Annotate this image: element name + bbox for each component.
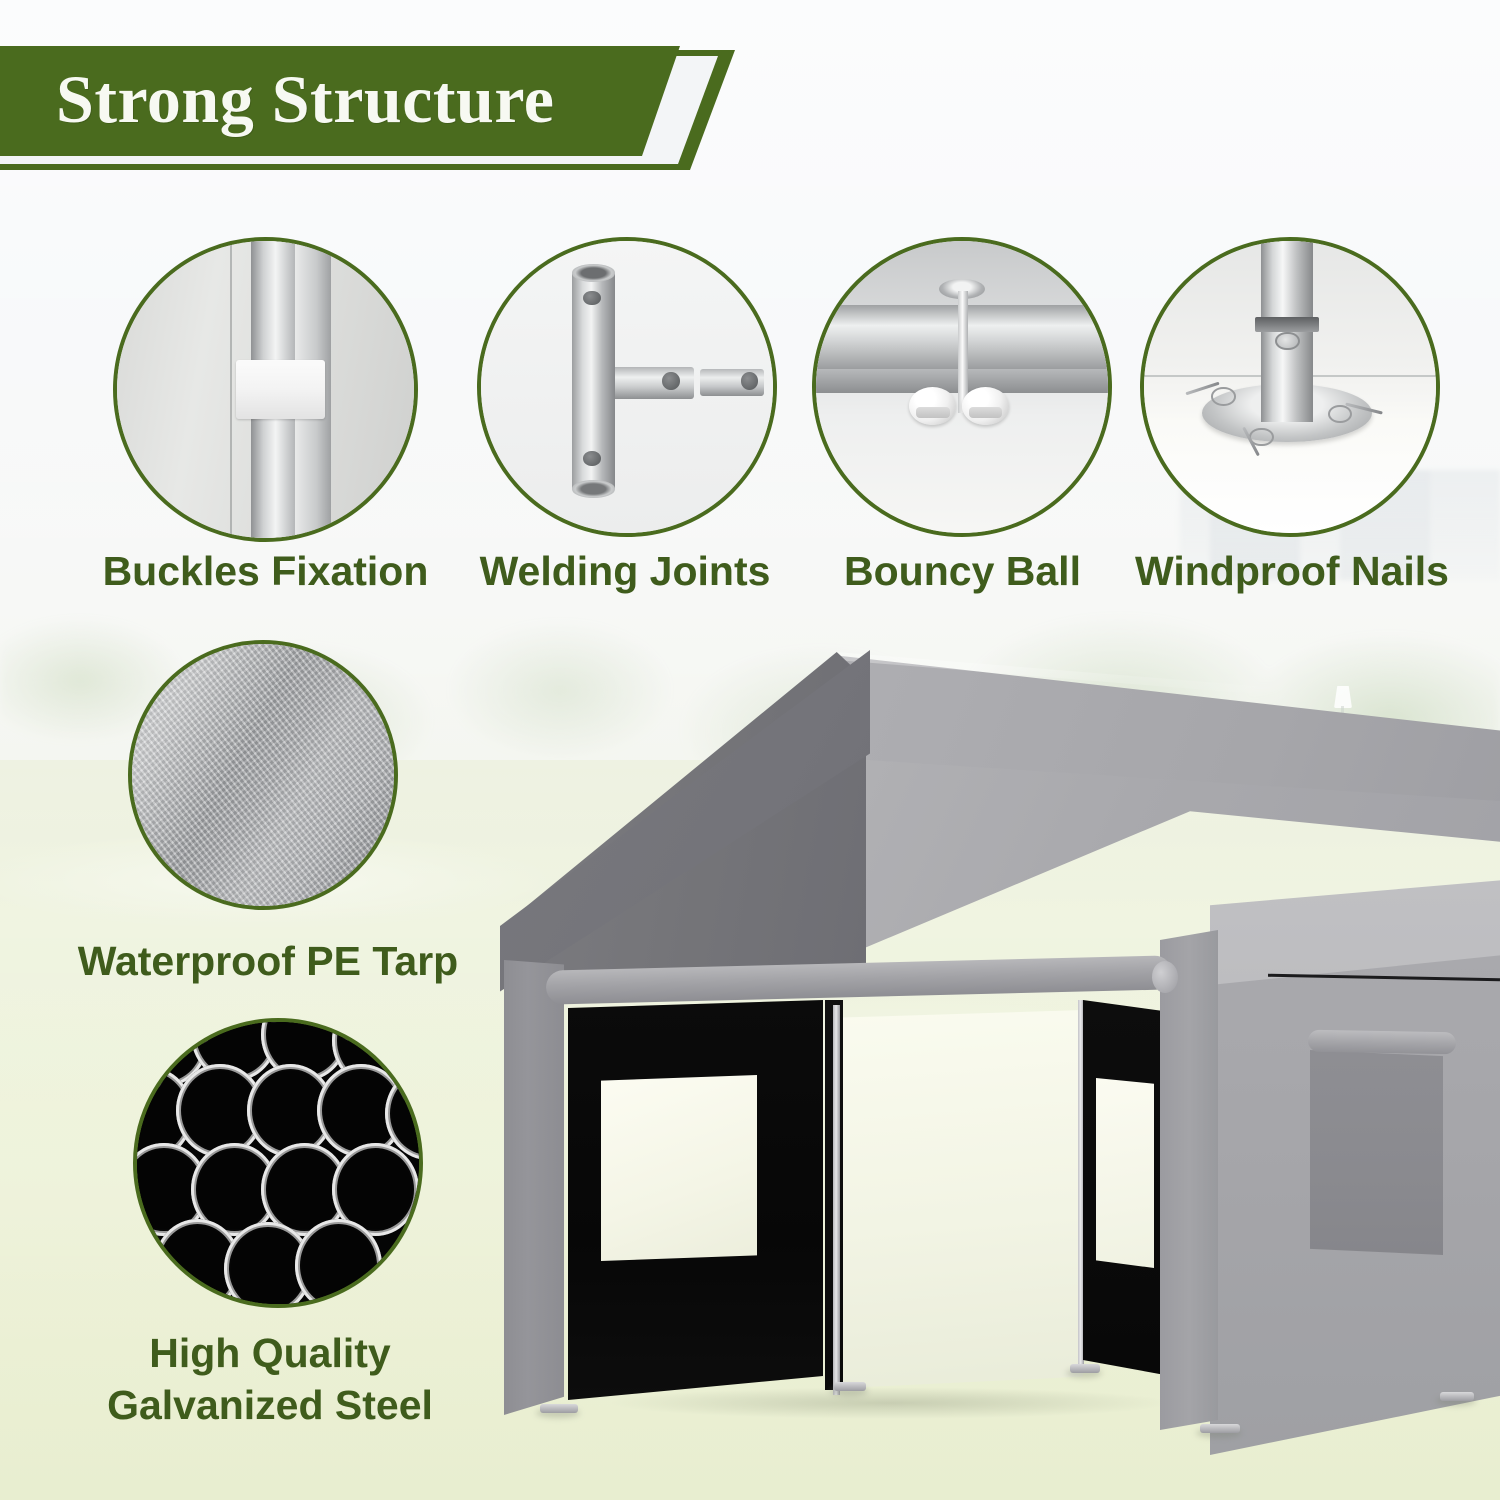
- page-title: Strong Structure: [56, 60, 554, 139]
- feature-label-waterproof-pe-tarp: Waterproof PE Tarp: [68, 938, 468, 985]
- front-corner-post-right: [1160, 930, 1218, 1430]
- feature-label-windproof-nails: Windproof Nails: [1122, 548, 1462, 595]
- side-window-roll-bar: [1308, 1030, 1456, 1055]
- feature-label-galvanized-steel-line2: Galvanized Steel: [60, 1382, 480, 1429]
- doorway-pole-left: [833, 1005, 840, 1395]
- feature-label-buckles-fixation: Buckles Fixation: [93, 548, 438, 595]
- title-banner: Strong Structure: [0, 38, 790, 178]
- infographic-canvas: Strong Structure Buckles Fixation Weldin…: [0, 0, 1500, 1500]
- base-foot: [540, 1404, 578, 1413]
- base-foot: [1200, 1424, 1240, 1433]
- side-window-panel: [1310, 1050, 1443, 1255]
- base-foot: [834, 1382, 866, 1391]
- open-doorway-bay: [843, 1010, 1083, 1388]
- feature-label-galvanized-steel-line1: High Quality: [60, 1330, 480, 1377]
- feature-label-welding-joints: Welding Joints: [460, 548, 790, 595]
- feature-label-bouncy-ball: Bouncy Ball: [800, 548, 1125, 595]
- bouncy-ball-icon: [812, 237, 1112, 537]
- galvanized-steel-icon: [133, 1018, 423, 1308]
- buckles-fixation-icon: [113, 237, 418, 542]
- front-corner-post-left: [504, 960, 564, 1415]
- base-foot: [1440, 1392, 1474, 1401]
- waterproof-pe-tarp-icon: [128, 640, 398, 910]
- front-window-right: [1096, 1078, 1154, 1268]
- windproof-nails-icon: [1140, 237, 1440, 537]
- welding-joints-icon: [477, 237, 777, 537]
- base-foot: [1070, 1364, 1100, 1373]
- front-window-left: [601, 1075, 757, 1261]
